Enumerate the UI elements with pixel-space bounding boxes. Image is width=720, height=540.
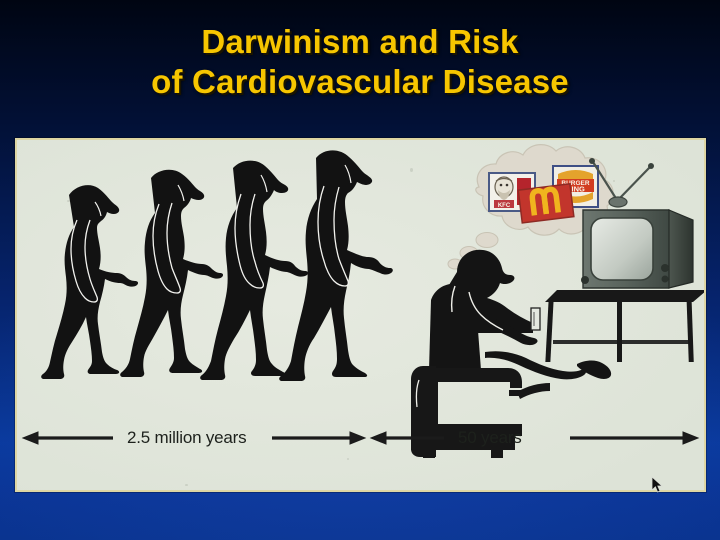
title-line-1: Darwinism and Risk bbox=[0, 22, 720, 62]
svg-text:KFC: KFC bbox=[498, 203, 511, 209]
caption-modern-timespan: 50 years bbox=[458, 428, 522, 448]
evolution-illustration: KFC BURGER KING bbox=[17, 140, 706, 492]
slide-title: Darwinism and Risk of Cardiovascular Dis… bbox=[0, 22, 720, 102]
illustration-panel: KFC BURGER KING bbox=[15, 138, 706, 492]
arrow-right-25my bbox=[272, 432, 365, 444]
evolution-figure-1 bbox=[41, 185, 138, 379]
arrow-right-50y bbox=[570, 432, 698, 444]
title-line-2: of Cardiovascular Disease bbox=[0, 62, 720, 102]
evolution-figure-2 bbox=[120, 170, 223, 377]
caption-evolution-timespan: 2.5 million years bbox=[127, 428, 246, 448]
evolution-figure-4 bbox=[279, 150, 393, 381]
timespan-arrows bbox=[23, 432, 698, 444]
mouse-cursor-icon bbox=[651, 476, 665, 494]
slide-canvas: Darwinism and Risk of Cardiovascular Dis… bbox=[0, 0, 720, 540]
remote-control bbox=[531, 308, 540, 330]
arrow-left-25my bbox=[23, 432, 113, 444]
mcdonalds-logo bbox=[518, 184, 574, 223]
evolution-figure-3 bbox=[200, 161, 308, 380]
